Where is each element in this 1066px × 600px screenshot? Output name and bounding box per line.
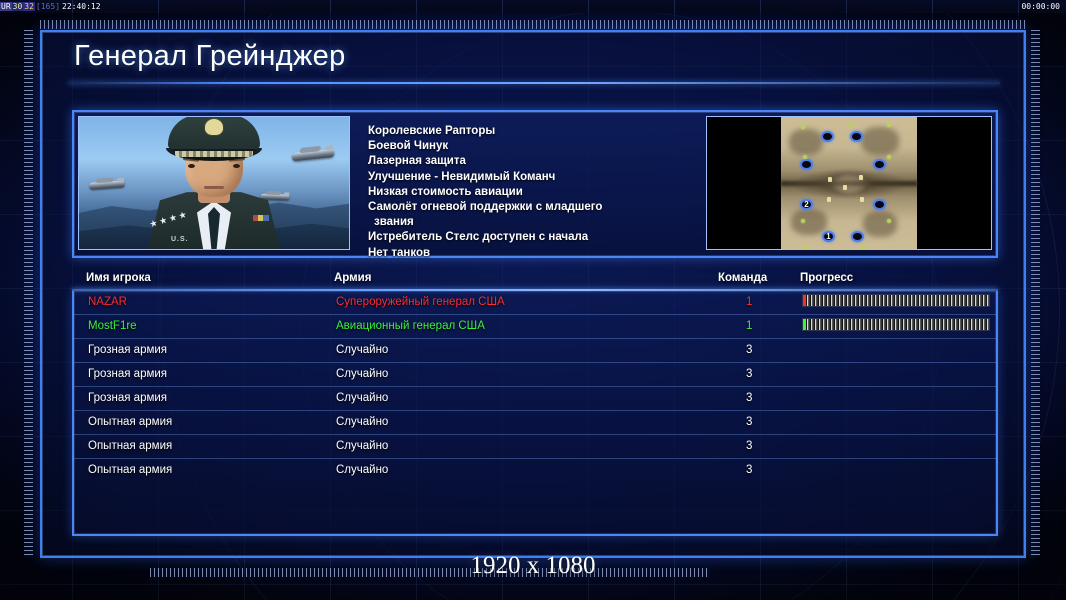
ability-item: Низкая стоимость авиации	[368, 185, 688, 200]
progress-bar-fill	[803, 319, 989, 330]
map-terrain-blotch	[791, 209, 827, 235]
table-row[interactable]: Грозная армияСлучайно3	[74, 387, 996, 411]
ability-item: Истребитель Стелс доступен с начала	[368, 230, 688, 245]
cell-player-name: Грозная армия	[88, 368, 167, 380]
header-team: Команда	[718, 272, 767, 284]
eye-left	[188, 164, 195, 168]
table-row[interactable]: Опытная армияСлучайно3	[74, 411, 996, 435]
map-spawn-point[interactable]	[800, 159, 813, 170]
cell-army: Случайно	[336, 464, 388, 476]
ability-item: Лазерная защита	[368, 154, 688, 169]
cell-player-name: Грозная армия	[88, 344, 167, 356]
status-timer: 00:00:00	[1021, 2, 1066, 11]
aircraft-icon	[89, 180, 125, 189]
map-supply-dock-icon	[887, 155, 891, 159]
resolution-label: 1920 x 1080	[0, 552, 1066, 580]
map-spawn-point[interactable]	[821, 131, 834, 142]
map-spawn-point-2[interactable]: 2	[800, 199, 813, 210]
cell-army: Случайно	[336, 392, 388, 404]
us-insignia: U.S.	[171, 236, 189, 243]
progress-bar-tip	[803, 319, 806, 330]
map-spawn-point[interactable]	[873, 199, 886, 210]
cell-team: 3	[746, 368, 752, 380]
map-terrain-blotch	[825, 173, 871, 193]
table-row[interactable]: Грозная армияСлучайно3	[74, 339, 996, 363]
mouth	[204, 186, 224, 189]
eagle-badge-icon	[205, 119, 223, 135]
map-supply-dock-icon	[849, 123, 853, 127]
table-row[interactable]: Опытная армияСлучайно3	[74, 435, 996, 459]
map-oil-derrick-icon	[859, 175, 863, 180]
general-info-panel: ★★★★ U.S. Королевские Рапторы Боевой Чин…	[72, 110, 998, 258]
ability-item: Нет танков	[368, 246, 688, 261]
page-title: Генерал Грейнджер	[74, 40, 346, 73]
map-spawn-point[interactable]	[873, 159, 886, 170]
general-abilities-list: Королевские Рапторы Боевой Чинук Лазерна…	[368, 124, 688, 261]
status-value-2: 32	[23, 2, 35, 11]
map-terrain-blotch	[863, 211, 897, 237]
map-supply-dock-icon	[887, 219, 891, 223]
spawn-label: 2	[804, 201, 808, 209]
map-terrain-blotch	[789, 129, 823, 155]
player-table: Имя игрока Армия Команда Прогресс NAZARС…	[72, 270, 998, 536]
aircraft-icon	[292, 149, 335, 162]
cell-army: Авиационный генерал США	[336, 320, 485, 332]
cell-army: Случайно	[336, 440, 388, 452]
general-portrait: ★★★★ U.S.	[78, 116, 350, 250]
map-oil-derrick-icon	[828, 177, 832, 182]
title-divider	[68, 82, 1000, 84]
spawn-label: 1	[826, 233, 830, 241]
general-info-window: Генерал Грейнджер	[40, 30, 1026, 558]
cell-team: 3	[746, 392, 752, 404]
map-spawn-point[interactable]	[850, 131, 863, 142]
cell-player-name: Опытная армия	[88, 440, 172, 452]
cell-player-name: MostF1re	[88, 320, 137, 332]
cell-progress	[802, 294, 990, 307]
status-prefix: UR	[0, 2, 12, 11]
progress-bar-tip	[803, 295, 806, 306]
ability-item: Самолёт огневой поддержки с младшего	[368, 200, 688, 215]
cell-team: 3	[746, 344, 752, 356]
progress-bar	[802, 318, 990, 331]
progress-bar	[802, 294, 990, 307]
map-spawn-point-1[interactable]: 1	[822, 231, 835, 242]
header-army: Армия	[334, 272, 371, 284]
map-oil-derrick-icon	[827, 197, 831, 202]
header-player-name: Имя игрока	[86, 272, 151, 284]
status-bracket: [165]	[35, 2, 61, 11]
map-supply-dock-icon	[801, 219, 805, 223]
table-row[interactable]: Грозная армияСлучайно3	[74, 363, 996, 387]
cell-team: 3	[746, 464, 752, 476]
general-figure: ★★★★ U.S.	[139, 121, 289, 249]
table-header-row: Имя игрока Армия Команда Прогресс	[72, 270, 998, 289]
cell-team: 1	[746, 296, 752, 308]
ribbon-bar-icon	[253, 215, 269, 221]
title-zone: Генерал Грейнджер	[42, 32, 1024, 86]
table-row[interactable]: NAZARСупероружейный генерал США1	[74, 291, 996, 315]
status-value-1: 30	[12, 2, 24, 11]
ability-item: Улучшение - Невидимый Команч	[368, 170, 688, 185]
header-progress: Прогресс	[800, 272, 853, 284]
map-terrain: 2 1	[781, 117, 917, 250]
map-terrain-blotch	[861, 127, 899, 155]
map-supply-dock-icon	[861, 245, 865, 249]
map-preview[interactable]: 2 1	[706, 116, 992, 250]
map-spawn-point[interactable]	[851, 231, 864, 242]
cell-team: 3	[746, 440, 752, 452]
status-bar: UR 30 32 [165] 22:40:12 00:00:00	[0, 0, 1066, 13]
table-row[interactable]: MostF1reАвиационный генерал США1	[74, 315, 996, 339]
app-root: UR 30 32 [165] 22:40:12 00:00:00 Генерал…	[0, 0, 1066, 600]
table-row[interactable]: Опытная армияСлучайно3	[74, 459, 996, 483]
cell-player-name: Опытная армия	[88, 464, 172, 476]
cell-team: 1	[746, 320, 752, 332]
cell-player-name: Опытная армия	[88, 416, 172, 428]
map-supply-dock-icon	[887, 123, 891, 127]
ability-item: Боевой Чинук	[368, 139, 688, 154]
progress-bar-fill	[803, 295, 989, 306]
table-body: NAZARСупероружейный генерал США1MostF1re…	[72, 291, 998, 536]
map-supply-dock-icon	[801, 125, 805, 129]
map-supply-dock-icon	[803, 155, 807, 159]
map-oil-derrick-icon	[860, 197, 864, 202]
cell-army: Случайно	[336, 344, 388, 356]
eye-right	[233, 164, 240, 168]
ability-item-continued: звания	[368, 215, 688, 230]
map-supply-dock-icon	[803, 245, 807, 249]
cell-army: Супероружейный генерал США	[336, 296, 505, 308]
cell-player-name: NAZAR	[88, 296, 127, 308]
cell-army: Случайно	[336, 416, 388, 428]
cell-progress	[802, 318, 990, 331]
cell-team: 3	[746, 416, 752, 428]
status-clock: 22:40:12	[61, 2, 102, 11]
map-oil-derrick-icon	[843, 185, 847, 190]
ability-item: Королевские Рапторы	[368, 124, 688, 139]
cell-player-name: Грозная армия	[88, 392, 167, 404]
cell-army: Случайно	[336, 368, 388, 380]
status-bar-grid	[0, 0, 1066, 13]
